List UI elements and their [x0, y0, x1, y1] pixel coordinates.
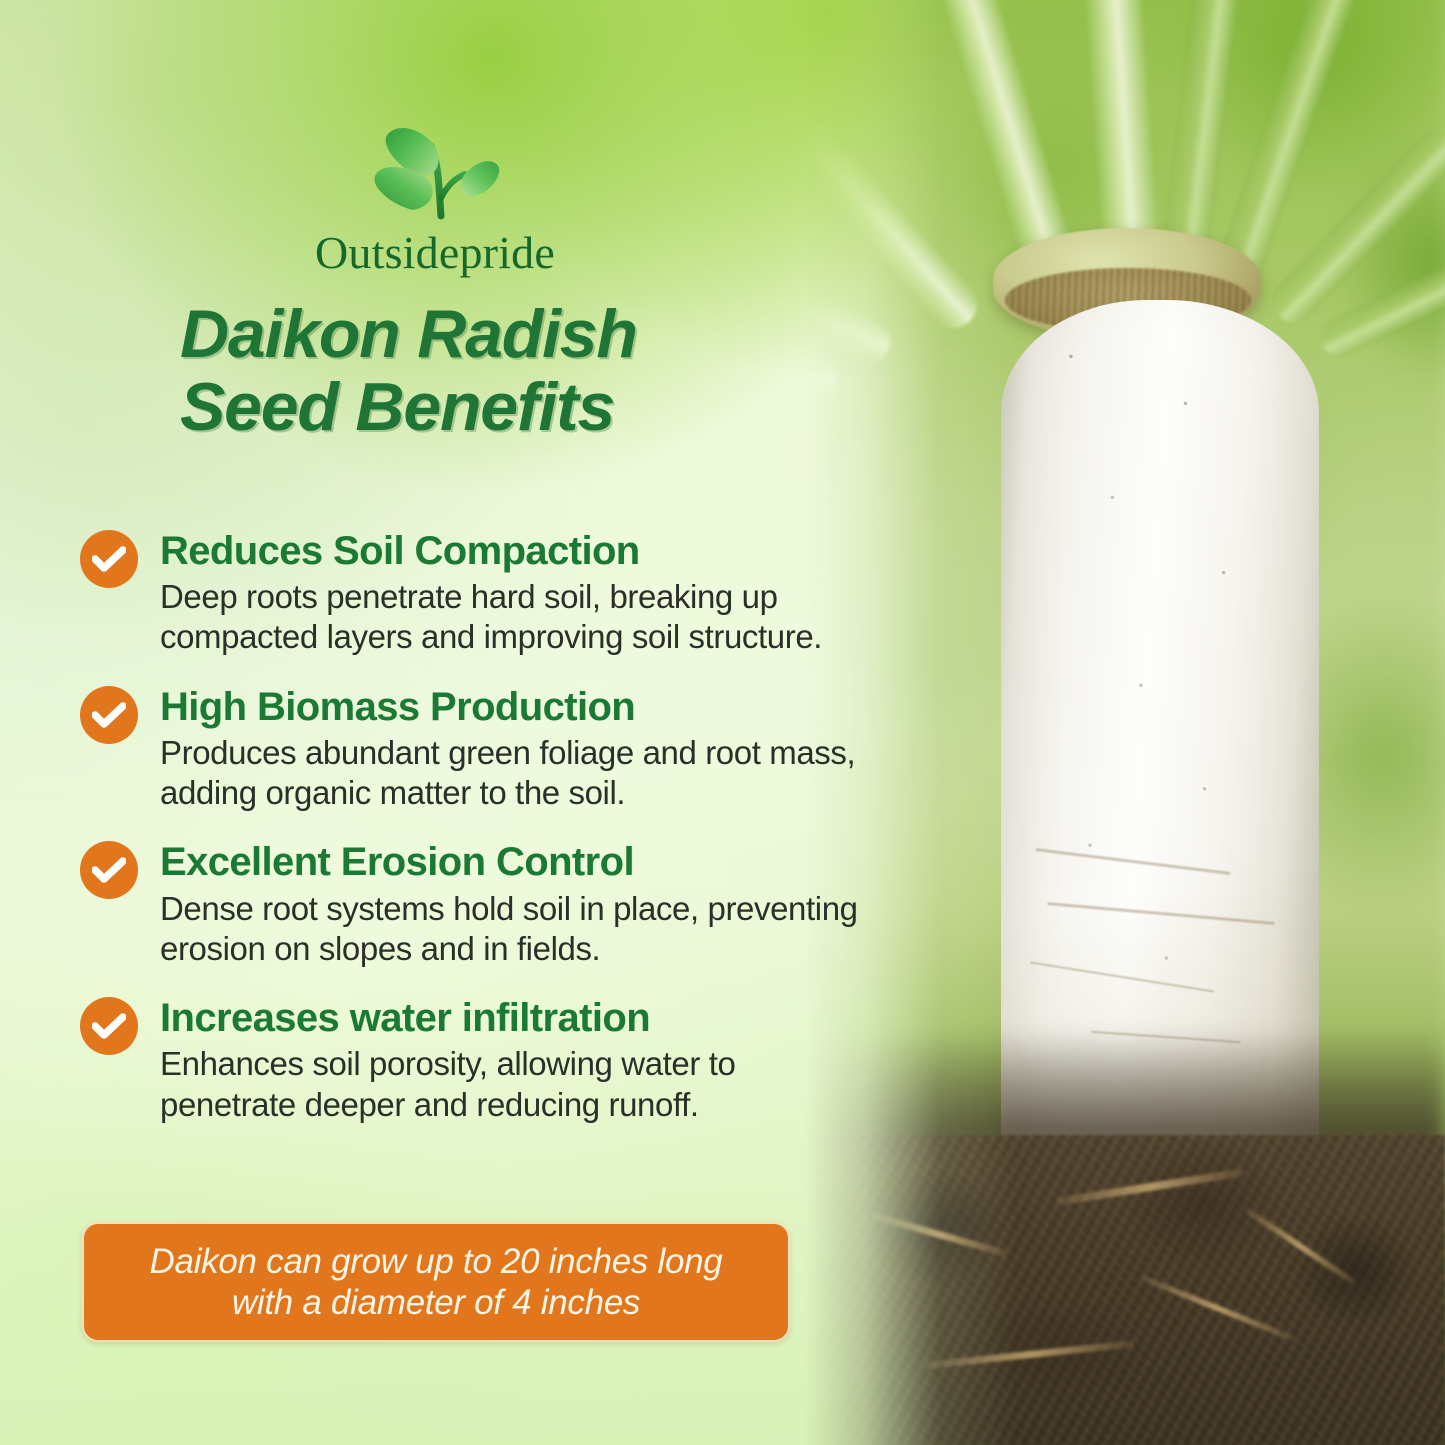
benefit-description: Deep roots penetrate hard soil, breaking…: [160, 577, 860, 658]
benefit-title: Excellent Erosion Control: [160, 841, 910, 884]
fact-callout-line-1: Daikon can grow up to 20 inches long: [150, 1242, 723, 1281]
soil-twig: [925, 1340, 1135, 1369]
fact-callout-line-2: with a diameter of 4 inches: [232, 1283, 640, 1322]
page-title-line-1: Daikon Radish: [180, 298, 820, 371]
benefit-title: High Biomass Production: [160, 686, 910, 729]
benefit-item: Increases water infiltration Enhances so…: [80, 995, 910, 1125]
soil-twig: [1140, 1275, 1294, 1342]
fact-callout-banner: Daikon can grow up to 20 inches long wit…: [82, 1222, 790, 1342]
check-circle-icon: [80, 841, 138, 899]
benefits-list: Reduces Soil Compaction Deep roots penet…: [80, 528, 910, 1151]
benefit-text: Reduces Soil Compaction Deep roots penet…: [160, 528, 910, 658]
soil-bed: [805, 1135, 1445, 1445]
brand-logo[interactable]: Outsidepride: [300, 112, 570, 279]
benefit-item: Excellent Erosion Control Dense root sys…: [80, 839, 910, 969]
benefit-title: Increases water infiltration: [160, 997, 910, 1040]
page-title: Daikon Radish Seed Benefits: [180, 298, 820, 444]
benefit-description: Dense root systems hold soil in place, p…: [160, 889, 860, 970]
soil-twig: [1244, 1207, 1355, 1285]
soil-twig: [1056, 1168, 1245, 1206]
benefit-description: Enhances soil porosity, allowing water t…: [160, 1044, 860, 1125]
benefit-title: Reduces Soil Compaction: [160, 530, 910, 573]
page-title-line-2: Seed Benefits: [180, 371, 820, 444]
check-circle-icon: [80, 530, 138, 588]
benefit-text: High Biomass Production Produces abundan…: [160, 684, 910, 814]
check-circle-icon: [80, 686, 138, 744]
benefit-item: High Biomass Production Produces abundan…: [80, 684, 910, 814]
fact-callout-text: Daikon can grow up to 20 inches long wit…: [128, 1241, 745, 1324]
benefit-text: Increases water infiltration Enhances so…: [160, 995, 910, 1125]
soil-twig: [871, 1212, 1008, 1257]
sprout-leaves-icon: [369, 112, 501, 230]
check-circle-icon: [80, 997, 138, 1055]
benefit-item: Reduces Soil Compaction Deep roots penet…: [80, 528, 910, 658]
benefit-description: Produces abundant green foliage and root…: [160, 733, 860, 814]
benefit-text: Excellent Erosion Control Dense root sys…: [160, 839, 910, 969]
infographic-poster: Outsidepride Daikon Radish Seed Benefits…: [0, 0, 1445, 1445]
brand-name: Outsidepride: [300, 226, 570, 279]
